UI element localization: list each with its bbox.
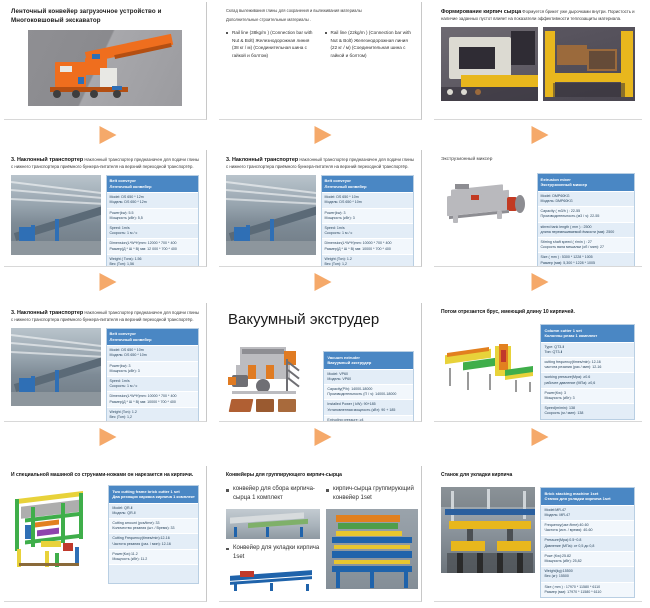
spec-row: Weight (Ton): 1.2 Вес (Тон): 1,2 xyxy=(322,254,413,267)
spec-header-ru: Два резящих каркаса кирпича 1 комплект xyxy=(112,494,195,500)
conveyor1-title-bold: 3. Наклонный транспортер xyxy=(11,157,83,163)
spec-row: Stirring shaft speed ( r/min ) : 27 Скор… xyxy=(538,237,634,252)
forming-photo-left xyxy=(441,27,538,101)
spec-row: Model: QR-Ⅱ Модель: QR-Ⅱ xyxy=(109,503,198,518)
forming-photo-right xyxy=(543,27,635,101)
spec-table: Vacuum extruder Вакуумный экструдер Mode… xyxy=(323,351,414,422)
rail-bullets-left: Rail line (38kg/m ) (Connection bar with… xyxy=(226,29,316,59)
vacuum-extruder-title: Вакуумный экструдер xyxy=(228,311,414,329)
spec-header: Column cutter 1 set Колонны резак 1 комп… xyxy=(541,325,634,342)
grouping-line-photo xyxy=(326,509,418,589)
flow-arrow-2 xyxy=(314,126,331,144)
slide-cell-2: Склад вылеживания глины для сохранения и… xyxy=(215,0,430,148)
grouping-bullets-left: конвейер для сбора кирпича-сырца 1 компл… xyxy=(226,485,320,504)
collect-conveyor-photo xyxy=(226,509,320,539)
slide-cell-6: Экстру­зионный миксер Extrusion mixer xyxy=(430,148,650,295)
spec-row: Weight (Ton): 1.2 Вес (Тон): 1,2 xyxy=(107,407,198,422)
list-item: конвейер для сбора кирпича-сырца 1 компл… xyxy=(226,485,320,504)
spec-row: Installed Power ( kW): 90+185 Установлен… xyxy=(324,399,413,414)
flow-arrow-8 xyxy=(314,428,331,446)
spec-row: Power(kw): 3 Мощность (кВт): 3 xyxy=(107,361,198,376)
mixer-photo xyxy=(441,173,532,235)
list-item: кирпич-сырца группирующий конвейер 1set xyxy=(326,485,418,504)
storage-header-line1: Склад вылеживания глины для сохранения и… xyxy=(226,8,414,14)
spec-row: Size ( mm ) : 5300 * 1228 * 1005 Размер … xyxy=(538,252,634,267)
spec-row: Power(kw): 5.5 Мощность (кВт): 5,5 xyxy=(107,208,198,223)
spec-row: Dimension(L*W*H)mm: 10000 * 700 * 400 Ра… xyxy=(322,238,413,253)
stacking-machine-photo xyxy=(441,487,535,573)
conveyor-photo xyxy=(11,175,101,255)
slide-cell-9: Потом отрезается брус, имеющий длину 10 … xyxy=(430,295,650,450)
slide-inclined-conveyor-2[interactable]: 3. Наклонный транспортер Наклонный транс… xyxy=(219,150,422,267)
flow-arrow-5 xyxy=(314,273,331,291)
spec-row: working pressure(Mpa): ≥0.6 рабочее давл… xyxy=(541,372,634,387)
spec-header: Belt conveyor Ленточный конвейер xyxy=(107,176,198,193)
spec-row: Type: QT3-Ⅱ Тип: QT3-Ⅱ xyxy=(541,342,634,357)
spec-row: Model:MR-47 Модель: MR-47 xyxy=(541,505,634,520)
conveyor-photo xyxy=(11,328,101,406)
flow-arrow-1 xyxy=(99,126,116,144)
flow-arrow-7 xyxy=(99,428,116,446)
spec-header: Vacuum extruder Вакуумный экструдер xyxy=(324,352,413,369)
spec-header-ru: Вакуумный экструдер xyxy=(327,360,410,366)
slide-extrusion-mixer[interactable]: Экстру­зионный миксер Extrusion mixer xyxy=(434,150,642,267)
slide-cell-4: 3. Наклонный транспортер Наклонный транс… xyxy=(0,148,215,295)
spec-row: Speed: 1m/s Скорость: 1 м / с xyxy=(107,376,198,391)
spec-header-ru: Ленточный конвейер xyxy=(110,337,195,343)
spec-table: Two cutting frame brick cutter 1 set Два… xyxy=(108,485,199,584)
spec-row: Model: DS 650 * 12m Модель: DS 650 * 12m xyxy=(107,192,198,207)
spec-row: stirred tank length ( mm ) : 2500 длина … xyxy=(538,222,634,237)
spec-row: Model: DS 650 * 10m Модель: DS 650 * 10m xyxy=(107,345,198,360)
grouping-bullets-left-2: Конвейер для укладки кирпича 1set xyxy=(226,544,320,563)
spec-row: Frequency(use /time):40-60 Частота (исп.… xyxy=(541,520,634,535)
conveyor2-header: 3. Наклонный транспортер Наклонный транс… xyxy=(226,156,414,171)
spec-header-ru: Ленточный конвейер xyxy=(110,184,195,190)
list-item: Конвейер для укладки кирпича 1set xyxy=(226,544,320,563)
slide-cell-1: Ленточный конвейер загрузочное устройств… xyxy=(0,0,215,148)
vacuum-extruder-photo xyxy=(226,335,318,419)
excavator-photo xyxy=(28,30,182,106)
grouping-bullets-right: кирпич-сырца группирующий конвейер 1set xyxy=(326,485,418,504)
conveyor3-header: 3. Наклонный транспортер Наклонный транс… xyxy=(11,309,199,324)
slide-grouping-conveyors[interactable]: Конвейеры для группирующего кирпич-сырца… xyxy=(219,466,422,602)
list-item: Rail line (38kg/m ) (Connection bar with… xyxy=(226,29,316,59)
conveyor-photo xyxy=(226,175,316,255)
conveyor3-title-bold: 3. Наклонный транспортер xyxy=(11,310,83,316)
spec-row: Speed: 1m/s Скорость: 1 м / с xyxy=(322,223,413,238)
flow-arrow-3 xyxy=(532,126,549,144)
slide-title: Ленточный конвейер загрузочное устройств… xyxy=(11,8,199,26)
spec-row: Cutting amount (pcs/time): 33 Количество… xyxy=(109,518,198,533)
column-cutter-photo xyxy=(441,324,535,398)
spec-row: Dimension(L*W*H)mm: 12000 * 700 * 400 Ра… xyxy=(107,238,198,253)
brick-cutter-title: И специальной машиной со струнами-ножами… xyxy=(11,472,199,479)
slide-column-cutter[interactable]: Потом отрезается брус, имеющий длину 10 … xyxy=(434,303,642,422)
spec-row: Extruding pressure: ≥4 Давление прессова… xyxy=(324,415,413,422)
spec-row: Speed: 1m/s Скорость: 1 м / с xyxy=(107,223,198,238)
flow-arrow-9 xyxy=(532,428,549,446)
mixer-title: Экстру­зионный миксер xyxy=(441,156,635,163)
flow-arrow-4 xyxy=(99,273,116,291)
slide-cell-12: Станок для укладки кирпича xyxy=(430,450,650,608)
stacking-machine-title: Станок для укладки кирпича xyxy=(441,472,635,479)
spec-row: cutting frequency(times/min): 12-16 част… xyxy=(541,357,634,372)
slide-vacuum-extruder[interactable]: Вакуумный экструдер xyxy=(219,303,422,422)
slide-inclined-conveyor-1[interactable]: 3. Наклонный транспортер Наклонный транс… xyxy=(4,150,207,267)
spec-row: Model: DMP60KG Модель: DMP60KG xyxy=(538,191,634,206)
brick-cutter-photo xyxy=(11,485,103,573)
spec-header-ru: Экструзионный миксер xyxy=(541,182,631,188)
spec-table: Column cutter 1 set Колонны резак 1 комп… xyxy=(540,324,635,420)
storage-header-line2: Дополнительные строительные материалы . xyxy=(226,17,414,23)
slide-two-cutting-frame-brick-cutter[interactable]: И специальной машиной со струнами-ножами… xyxy=(4,466,207,602)
spec-row: Model: VP60 Модель: VP60 xyxy=(324,369,413,384)
spec-header-ru: Колонны резак 1 комплект xyxy=(544,333,631,339)
conveyor2-title-bold: 3. Наклонный транспортер xyxy=(226,157,298,163)
spec-row: Powr (Kw):25.82 Мощность (кВт): 25,82 xyxy=(541,551,634,566)
spec-row: Pressure(Mpa):0.5~0.8 Давление (МПа): от… xyxy=(541,535,634,550)
spec-header: Extrusion mixer Экструзионный миксер xyxy=(538,174,634,191)
spec-row: Capacity ( m3/h ) : 22-55 Производительн… xyxy=(538,206,634,221)
slide-brick-stacking-machine[interactable]: Станок для укладки кирпича xyxy=(434,466,642,602)
spec-header-ru: Ленточный конвейер xyxy=(325,184,410,190)
slide-belt-conveyor-loader-excavator[interactable]: Ленточный конвейер загрузочное устройств… xyxy=(4,2,207,120)
spec-row: Power(Kw):11.2 Мощность (кВт): 11.2 xyxy=(109,549,198,564)
forming-title-bold: Формирование кирпич сырца xyxy=(441,9,521,15)
slide-grid: Ленточный конвейер загрузочное устройств… xyxy=(0,0,650,608)
spec-row: Cutting Frequency(times/min):12-16 Часто… xyxy=(109,533,198,548)
column-cutter-title: Потом отрезается брус, имеющий длину 10 … xyxy=(441,309,635,316)
spec-row: Weight ( Tons): 1.56 Вес (Тон): 1,56 xyxy=(107,254,198,267)
slide-cell-11: Конвейеры для группирующего кирпич-сырца… xyxy=(215,450,430,608)
slide-rail-line-materials[interactable]: Склад вылеживания глины для сохранения и… xyxy=(219,2,422,120)
spec-row: Speed(m/min): 138 Скорость (м / мин): 13… xyxy=(541,403,634,418)
spec-table: Belt conveyor Ленточный конвейер Model: … xyxy=(106,328,199,422)
spec-header-ru: Станок для укладки кирпича 1set xyxy=(544,496,631,502)
spec-row: Capacity(P/h): 14000-18000 Производитель… xyxy=(324,384,413,399)
flow-arrow-6 xyxy=(532,273,549,291)
rail-bullets-right: Rail line (22kg/m ) (Connection bar with… xyxy=(325,29,415,59)
spec-row: Power(Kw): 3 Мощность (кВт): 3 xyxy=(541,388,634,403)
spec-row: Power(kw): 3 Мощность (кВт): 3 xyxy=(322,208,413,223)
slide-cell-3: Формирование кирпич сырца Формуется брик… xyxy=(430,0,650,148)
spec-table: Belt conveyor Ленточный конвейер Model: … xyxy=(321,175,414,267)
stacking-conveyor-photo xyxy=(226,567,320,593)
spec-row: Model: DS 650 * 10m Модель: DS 650 * 10m xyxy=(322,192,413,207)
spec-header: Belt conveyor Ленточный конвейер xyxy=(322,176,413,193)
spec-row: Size ( mm ) : 17970 * 11580 * 6110 Разме… xyxy=(541,582,634,597)
spec-table: Belt conveyor Ленточный конвейер Model: … xyxy=(106,175,199,267)
grouping-conveyors-title: Конвейеры для группирующего кирпич-сырца xyxy=(226,472,414,479)
slide-cell-10: И специальной машиной со струнами-ножами… xyxy=(0,450,215,608)
slide-cell-8: Вакуумный экструдер xyxy=(215,295,430,450)
spec-header: Two cutting frame brick cutter 1 set Два… xyxy=(109,486,198,503)
slide-forming-raw-brick[interactable]: Формирование кирпич сырца Формуется брик… xyxy=(434,2,642,120)
slide-cell-7: 3. Наклонный транспортер Наклонный транс… xyxy=(0,295,215,450)
spec-row-filler xyxy=(109,564,198,583)
slide-cell-5: 3. Наклонный транспортер Наклонный транс… xyxy=(215,148,430,295)
spec-table: Extrusion mixer Экструзионный миксер Mod… xyxy=(537,173,635,267)
spec-header: Belt conveyor Ленточный конвейер xyxy=(107,329,198,346)
spec-row: Dimension(L*W*H)mm: 10000 * 700 * 400 Ра… xyxy=(107,391,198,406)
conveyor1-header: 3. Наклонный транспортер Наклонный транс… xyxy=(11,156,199,171)
forming-header: Формирование кирпич сырца Формуется брик… xyxy=(441,8,635,23)
spec-table: Brick stacking machine 1set Станок для у… xyxy=(540,487,635,598)
slide-inclined-conveyor-3[interactable]: 3. Наклонный транспортер Наклонный транс… xyxy=(4,303,207,422)
spec-row: Weight(kg):15500 Вес (кг): 15500 xyxy=(541,566,634,581)
spec-header: Brick stacking machine 1set Станок для у… xyxy=(541,488,634,505)
list-item: Rail line (22kg/m ) (Connection bar with… xyxy=(325,29,415,59)
